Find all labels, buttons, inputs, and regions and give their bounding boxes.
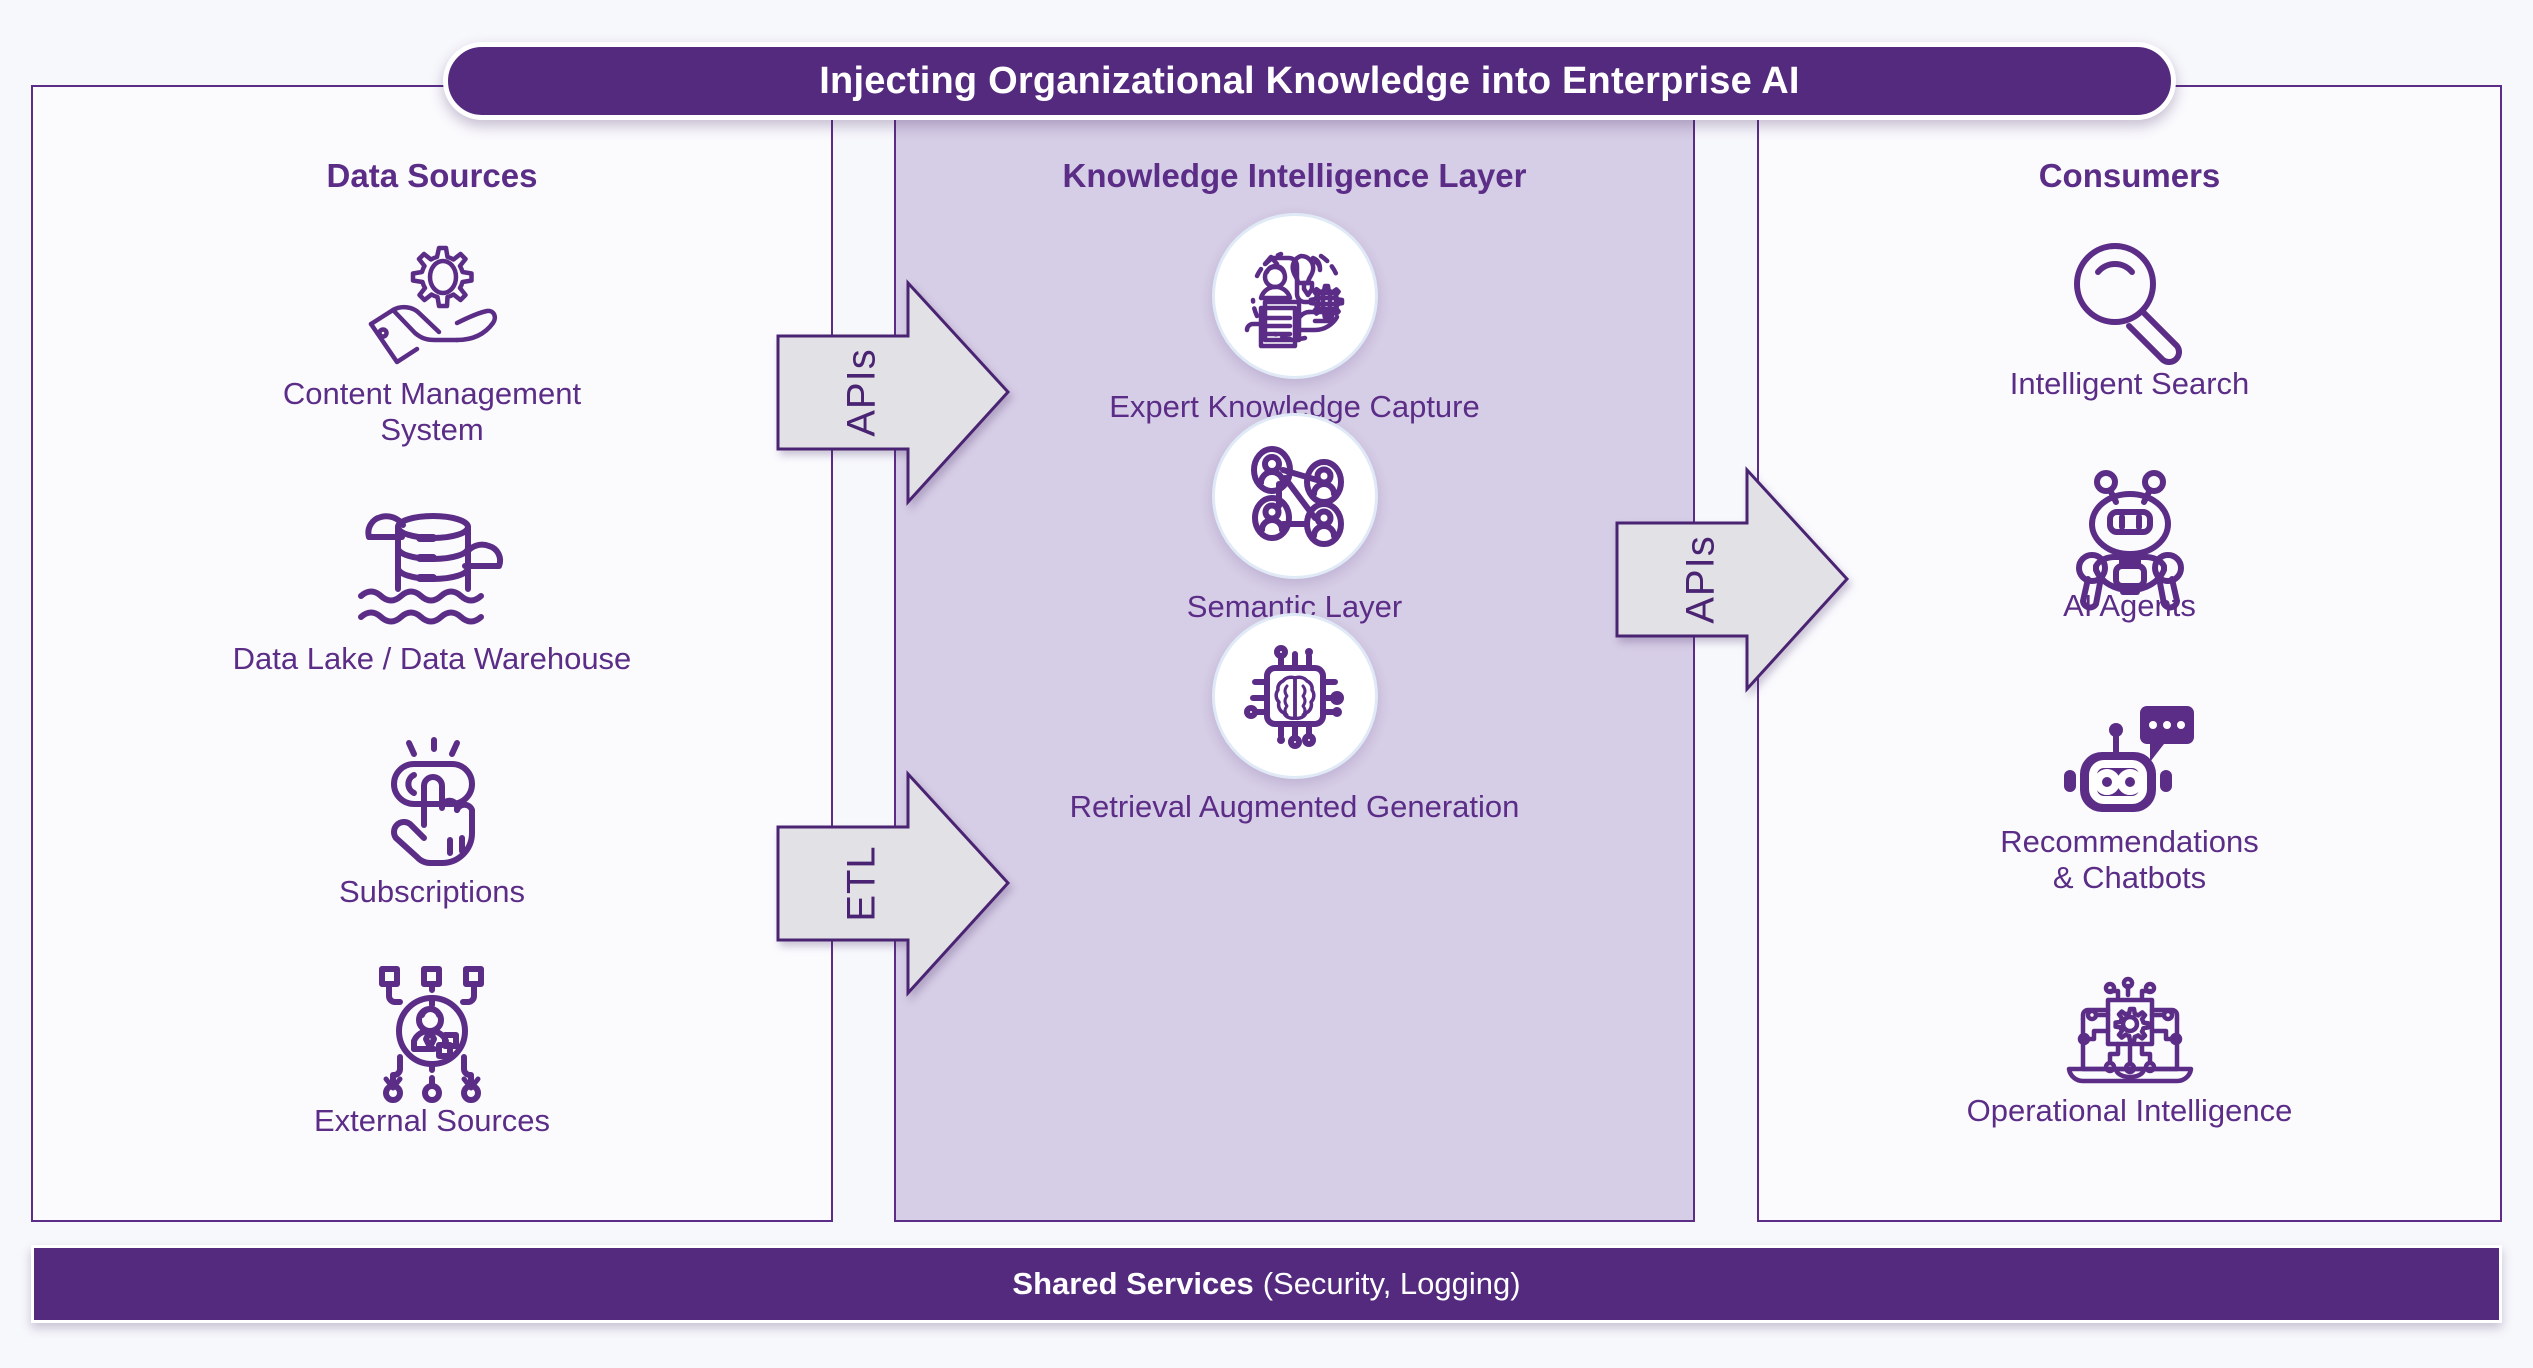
laptop-circuit-gear-icon (1757, 975, 2502, 1087)
magnifier-icon (1757, 240, 2502, 360)
data-source-label: Data Lake / Data Warehouse (31, 641, 833, 677)
brain-chip-icon (1212, 613, 1378, 779)
shared-services-detail: (Security, Logging) (1263, 1266, 1521, 1302)
data-source-data-lake-warehouse[interactable]: Data Lake / Data Warehouse (31, 500, 833, 677)
data-source-label: Subscriptions (31, 874, 833, 910)
data-source-label: Content Management System (31, 376, 833, 448)
diagram-canvas: Data Sources Knowledge Intelligence Laye… (0, 0, 2533, 1368)
person-network-icon (31, 965, 833, 1097)
arrow-label-container: APIs (1555, 470, 1847, 689)
chatbot-filled-icon (1757, 700, 2502, 818)
arrow-etl-data-sources-to-layer: ETL (778, 774, 1008, 993)
arrow-apis-data-sources-to-layer: APIs (778, 283, 1008, 502)
arrow-label: ETL (839, 845, 884, 921)
capability-expert-knowledge-capture[interactable]: Expert Knowledge Capture (894, 213, 1695, 425)
consumer-ai-agents[interactable]: AI Agents (1757, 470, 2502, 624)
data-source-content-management-system[interactable]: Content Management System (31, 240, 833, 448)
data-source-external-sources[interactable]: External Sources (31, 965, 833, 1139)
arrow-label: APIs (839, 348, 884, 436)
shared-services-bar: Shared Services (Security, Logging) (31, 1245, 2502, 1323)
arrow-label-container: ETL (716, 774, 1008, 993)
knowledge-layer-heading: Knowledge Intelligence Layer (894, 157, 1695, 195)
arrow-label-container: APIs (716, 283, 1008, 502)
diagram-title-banner: Injecting Organizational Knowledge into … (443, 42, 2176, 120)
consumer-intelligent-search[interactable]: Intelligent Search (1757, 240, 2502, 402)
data-sources-heading: Data Sources (31, 157, 833, 195)
arrow-label: APIs (1678, 535, 1723, 623)
shared-services-label: Shared Services (1012, 1266, 1253, 1302)
consumer-label: Operational Intelligence (1757, 1093, 2502, 1129)
people-graph-icon (1212, 413, 1378, 579)
arrow-apis-layer-to-consumers: APIs (1617, 470, 1847, 689)
consumers-heading: Consumers (1757, 157, 2502, 195)
consumer-label: AI Agents (1757, 588, 2502, 624)
consumer-label: Intelligent Search (1757, 366, 2502, 402)
data-source-label: External Sources (31, 1103, 833, 1139)
consumer-recommendations-chatbots[interactable]: Recommendations & Chatbots (1757, 700, 2502, 896)
capability-label: Retrieval Augmented Generation (894, 789, 1695, 825)
consumer-operational-intelligence[interactable]: Operational Intelligence (1757, 975, 2502, 1129)
robot-outline-icon (1757, 470, 2502, 582)
data-source-subscriptions[interactable]: Subscriptions (31, 740, 833, 910)
page-title: Injecting Organizational Knowledge into … (819, 60, 1799, 103)
database-cloud-water-icon (31, 500, 833, 635)
gear-on-hand-icon (31, 240, 833, 370)
hand-tap-toggle-icon (31, 740, 833, 868)
consumer-label: Recommendations & Chatbots (1757, 824, 2502, 896)
expert-knowledge-icon (1212, 213, 1378, 379)
